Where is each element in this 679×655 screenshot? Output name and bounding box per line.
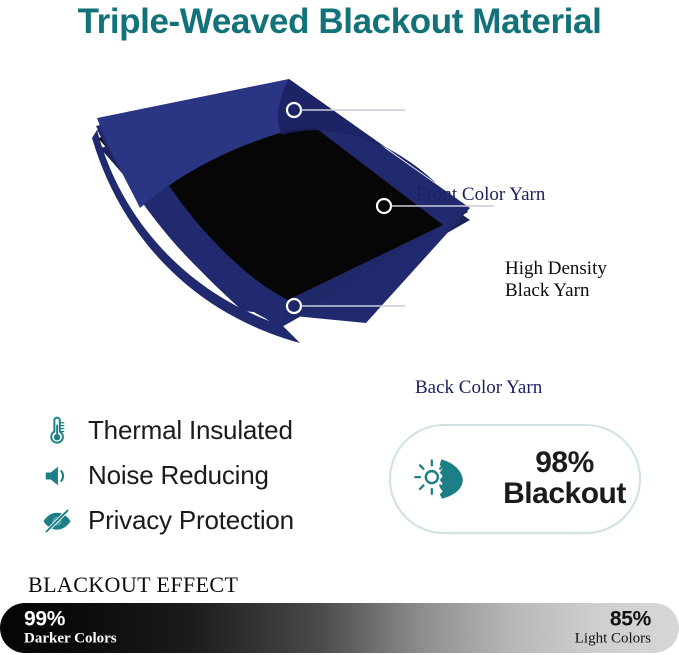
blackout-effect-gradient-bar: 99% Darker Colors 85% Light Colors: [0, 603, 679, 653]
page-title: Triple-Weaved Blackout Material: [0, 2, 679, 42]
eye-off-icon: [40, 504, 74, 538]
callout-label-back: Back Color Yarn: [415, 377, 542, 399]
callout-label-middle-line1: High Density: [505, 258, 607, 280]
feature-item-noise: Noise Reducing: [40, 453, 370, 498]
effect-right-percent: 85%: [575, 609, 651, 631]
effect-right-caption: Light Colors: [575, 631, 651, 648]
thermometer-icon: [40, 414, 74, 448]
fabric-layers-diagram: Front Color Yarn High Density Black Yarn…: [0, 78, 679, 368]
callout-label-middle-line2: Black Yarn: [505, 280, 607, 302]
feature-label-thermal: Thermal Insulated: [88, 415, 293, 446]
callout-label-middle: High Density Black Yarn: [505, 258, 607, 303]
effect-left-stat: 99% Darker Colors: [24, 609, 117, 648]
blackout-percent: 98%: [490, 448, 639, 479]
fabric-layers-svg: [0, 78, 679, 368]
feature-item-privacy: Privacy Protection: [40, 498, 370, 543]
effect-left-caption: Darker Colors: [24, 631, 117, 648]
blackout-percentage-badge: 98% Blackout: [389, 424, 641, 534]
blackout-effect-heading: BLACKOUT EFFECT: [28, 572, 238, 598]
feature-list: Thermal Insulated Noise Reducing Privacy…: [40, 408, 370, 543]
blackout-badge-text: 98% Blackout: [490, 448, 639, 510]
feature-item-thermal: Thermal Insulated: [40, 408, 370, 453]
blackout-word: Blackout: [490, 479, 639, 510]
callout-label-front: Front Color Yarn: [416, 184, 545, 206]
effect-right-stat: 85% Light Colors: [575, 609, 651, 648]
feature-label-noise: Noise Reducing: [88, 460, 269, 491]
effect-left-percent: 99%: [24, 609, 117, 631]
speaker-icon: [40, 459, 74, 493]
feature-label-privacy: Privacy Protection: [88, 505, 294, 536]
sun-blocked-icon: [412, 447, 476, 511]
